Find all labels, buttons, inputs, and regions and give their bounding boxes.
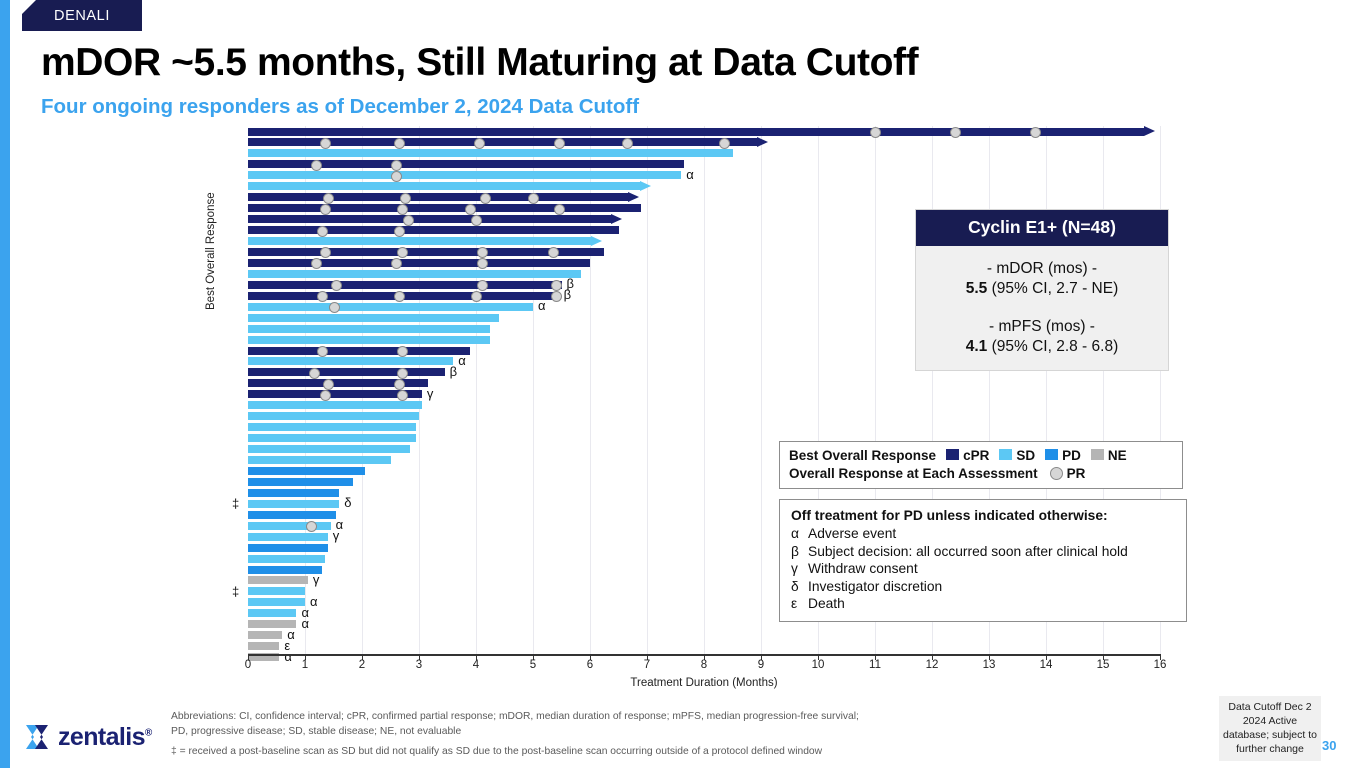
off-treatment-symbol: α xyxy=(301,618,309,629)
mpfs-value-row: 4.1 (95% CI, 2.8 - 6.8) xyxy=(916,338,1168,356)
off-treatment-notes-box: Off treatment for PD unless indicated ot… xyxy=(779,499,1187,622)
x-axis-tick-label: 14 xyxy=(1040,659,1053,671)
off-treatment-symbol: γ xyxy=(427,388,434,399)
legend-row1-label: Best Overall Response xyxy=(789,448,936,463)
ongoing-arrow-icon xyxy=(591,236,602,246)
x-axis-tick-label: 7 xyxy=(644,659,650,671)
note-row: γWithdraw consent xyxy=(791,561,1175,576)
legend-swatches: cPRSDPDNE xyxy=(936,448,1127,463)
post-baseline-dagger: ‡ xyxy=(232,584,239,599)
swimmer-bar xyxy=(248,478,353,486)
x-axis-tick-label: 13 xyxy=(983,659,996,671)
swimmer-bar xyxy=(248,171,681,179)
data-cutoff-box: Data Cutoff Dec 2 2024 Active database; … xyxy=(1219,696,1321,761)
legend-swatch-pd-icon xyxy=(1045,449,1058,460)
y-axis-label: Best Overall Response xyxy=(205,192,217,310)
swimmer-bar xyxy=(248,609,296,617)
swimmer-bar xyxy=(248,423,416,431)
swimmer-bar xyxy=(248,434,416,442)
swimmer-bar-row xyxy=(248,181,1160,192)
chart-legend: Best Overall Response cPRSDPDNE Overall … xyxy=(779,441,1183,489)
swimmer-bar xyxy=(248,303,533,311)
swimmer-bar-row xyxy=(248,148,1160,159)
off-treatment-symbol: α xyxy=(284,651,292,662)
mdor-value: 5.5 xyxy=(966,280,988,297)
zentalis-mark-icon xyxy=(22,722,52,752)
swimmer-bar xyxy=(248,511,336,519)
x-axis-tick-label: 12 xyxy=(926,659,939,671)
swimmer-bar-row xyxy=(248,137,1160,148)
x-axis-tick-label: 4 xyxy=(473,659,479,671)
swimmer-bar xyxy=(248,576,308,584)
swimmer-bar xyxy=(248,270,581,278)
mpfs-value: 4.1 xyxy=(966,338,988,355)
logo-text-label: zentalis xyxy=(58,723,145,751)
swimmer-bar xyxy=(248,555,325,563)
swimmer-bar xyxy=(248,314,499,322)
legend-label-ne: NE xyxy=(1108,448,1127,463)
swimmer-bar-row: γ xyxy=(248,389,1160,400)
swimmer-bar xyxy=(248,566,322,574)
note-text: Investigator discretion xyxy=(808,579,942,594)
swimmer-bar xyxy=(248,390,422,398)
abbrev-line-1: Abbreviations: CI, confidence interval; … xyxy=(171,710,931,740)
swimmer-bar xyxy=(248,368,445,376)
abbrev-text-b: PD, progressive disease; SD, stable dise… xyxy=(171,726,461,737)
off-treatment-symbol: α xyxy=(458,355,466,366)
legend-swatch-sd-icon xyxy=(999,449,1012,460)
off-treatment-symbol: γ xyxy=(333,530,340,541)
x-axis-tick-label: 9 xyxy=(758,659,764,671)
swimmer-bar xyxy=(248,149,733,157)
legend-label-cpr: cPR xyxy=(963,448,989,463)
swimmer-bar-row xyxy=(248,422,1160,433)
legend-swatch-ne-icon xyxy=(1091,449,1104,460)
off-treatment-symbol: γ xyxy=(313,574,320,585)
swimmer-bar xyxy=(248,281,562,289)
x-axis-tick-label: 6 xyxy=(587,659,593,671)
swimmer-bar xyxy=(248,193,628,201)
swimmer-bar xyxy=(248,215,611,223)
company-logo: zentalis® xyxy=(22,722,152,752)
x-axis-tick-label: 5 xyxy=(530,659,536,671)
stats-box: Cyclin E1+ (N=48) - mDOR (mos) - 5.5 (95… xyxy=(915,209,1169,371)
legend-swatch-cpr-icon xyxy=(946,449,959,460)
x-axis-tick-label: 1 xyxy=(302,659,308,671)
swimmer-bar xyxy=(248,598,305,606)
swimmer-bar-row xyxy=(248,400,1160,411)
ongoing-arrow-icon xyxy=(1144,126,1155,136)
note-row: εDeath xyxy=(791,596,1175,611)
swimmer-bar-row xyxy=(248,159,1160,170)
swimmer-bar xyxy=(248,226,619,234)
legend-row-assessment: Overall Response at Each Assessment PR xyxy=(789,466,1173,481)
swimmer-bar-row: α xyxy=(248,170,1160,181)
abbrev-line-2: ‡ = received a post-baseline scan as SD … xyxy=(171,745,931,760)
swimmer-bar xyxy=(248,642,279,650)
ongoing-arrow-icon xyxy=(757,137,768,147)
zentalis-wordmark: zentalis® xyxy=(58,723,152,752)
legend-row2-label: Overall Response at Each Assessment xyxy=(789,466,1038,481)
legend-label-sd: SD xyxy=(1016,448,1035,463)
x-axis-tick-label: 3 xyxy=(416,659,422,671)
swimmer-bar xyxy=(248,237,591,245)
x-axis-tick-label: 11 xyxy=(869,659,881,671)
swimmer-bar xyxy=(248,631,282,639)
swimmer-bar xyxy=(248,489,339,497)
mdor-label: - mDOR (mos) - xyxy=(916,260,1168,278)
note-symbol: δ xyxy=(791,579,808,594)
mpfs-ci: (95% CI, 2.8 - 6.8) xyxy=(987,338,1118,355)
off-treatment-symbol: δ xyxy=(344,497,351,508)
swimmer-bar xyxy=(248,500,339,508)
swimmer-bar xyxy=(248,347,470,355)
note-text: Death xyxy=(808,596,845,611)
note-text: Adverse event xyxy=(808,526,896,541)
swimmer-bar xyxy=(248,401,422,409)
registered-mark: ® xyxy=(145,727,152,738)
stats-box-heading: Cyclin E1+ (N=48) xyxy=(916,210,1168,246)
swimmer-bar xyxy=(248,204,641,212)
note-symbol: α xyxy=(791,526,808,541)
swimmer-bar xyxy=(248,259,590,267)
x-axis-tick-label: 2 xyxy=(359,659,365,671)
mdor-value-row: 5.5 (95% CI, 2.7 - NE) xyxy=(916,280,1168,298)
off-treatment-symbol: α xyxy=(538,300,546,311)
off-treatment-symbol: β xyxy=(564,289,571,300)
swimmer-plot-chart: Best Overall Response αββααβγδ‡αγγ‡ααααε… xyxy=(0,0,1365,768)
swimmer-bar xyxy=(248,533,328,541)
legend-row2-item: PR xyxy=(1067,466,1086,481)
x-axis-tick-label: 8 xyxy=(701,659,707,671)
mdor-ci: (95% CI, 2.7 - NE) xyxy=(987,280,1118,297)
swimmer-bar xyxy=(248,325,490,333)
swimmer-bar-row: α xyxy=(248,630,1160,641)
pr-dot-icon xyxy=(1050,467,1063,480)
legend-label-pd: PD xyxy=(1062,448,1081,463)
note-symbol: ε xyxy=(791,596,808,611)
swimmer-bar-row xyxy=(248,411,1160,422)
post-baseline-dagger: ‡ xyxy=(232,496,239,511)
note-row: βSubject decision: all occurred soon aft… xyxy=(791,544,1175,559)
x-axis-tick-label: 0 xyxy=(245,659,251,671)
x-axis-tick-label: 16 xyxy=(1154,659,1167,671)
notes-rows: αAdverse eventβSubject decision: all occ… xyxy=(791,526,1175,611)
swimmer-bar-row xyxy=(248,126,1160,137)
legend-row-best-response: Best Overall Response cPRSDPDNE xyxy=(789,448,1173,463)
stats-box-body: - mDOR (mos) - 5.5 (95% CI, 2.7 - NE) - … xyxy=(916,246,1168,370)
ongoing-arrow-icon xyxy=(640,181,651,191)
ongoing-arrow-icon xyxy=(611,214,622,224)
note-symbol: β xyxy=(791,544,808,559)
swimmer-bar-row: ε xyxy=(248,641,1160,652)
swimmer-bar xyxy=(248,182,640,190)
x-axis-tick-label: 15 xyxy=(1097,659,1110,671)
page-number: 30 xyxy=(1322,738,1336,753)
mpfs-label: - mPFS (mos) - xyxy=(916,318,1168,336)
abbreviations-footnote: Abbreviations: CI, confidence interval; … xyxy=(171,710,931,760)
ongoing-arrow-icon xyxy=(628,192,639,202)
swimmer-bar xyxy=(248,128,1144,136)
swimmer-bar-row xyxy=(248,378,1160,389)
abbrev-text-a: Abbreviations: CI, confidence interval; … xyxy=(171,711,859,722)
note-row: αAdverse event xyxy=(791,526,1175,541)
swimmer-bar-row xyxy=(248,192,1160,203)
swimmer-bar xyxy=(248,357,453,365)
x-axis-title: Treatment Duration (Months) xyxy=(248,677,1160,689)
note-row: δInvestigator discretion xyxy=(791,579,1175,594)
note-symbol: γ xyxy=(791,561,808,576)
swimmer-bar xyxy=(248,412,419,420)
swimmer-bar xyxy=(248,587,305,595)
off-treatment-symbol: α xyxy=(310,596,318,607)
swimmer-bar xyxy=(248,522,331,530)
swimmer-bar xyxy=(248,336,490,344)
swimmer-bar xyxy=(248,445,410,453)
swimmer-bar xyxy=(248,467,365,475)
off-treatment-symbol: β xyxy=(450,366,457,377)
note-text: Subject decision: all occurred soon afte… xyxy=(808,544,1128,559)
swimmer-bar xyxy=(248,544,328,552)
note-text: Withdraw consent xyxy=(808,561,918,576)
x-axis-tick-label: 10 xyxy=(812,659,825,671)
swimmer-bar xyxy=(248,456,391,464)
off-treatment-symbol: α xyxy=(686,169,694,180)
notes-heading: Off treatment for PD unless indicated ot… xyxy=(791,508,1175,523)
